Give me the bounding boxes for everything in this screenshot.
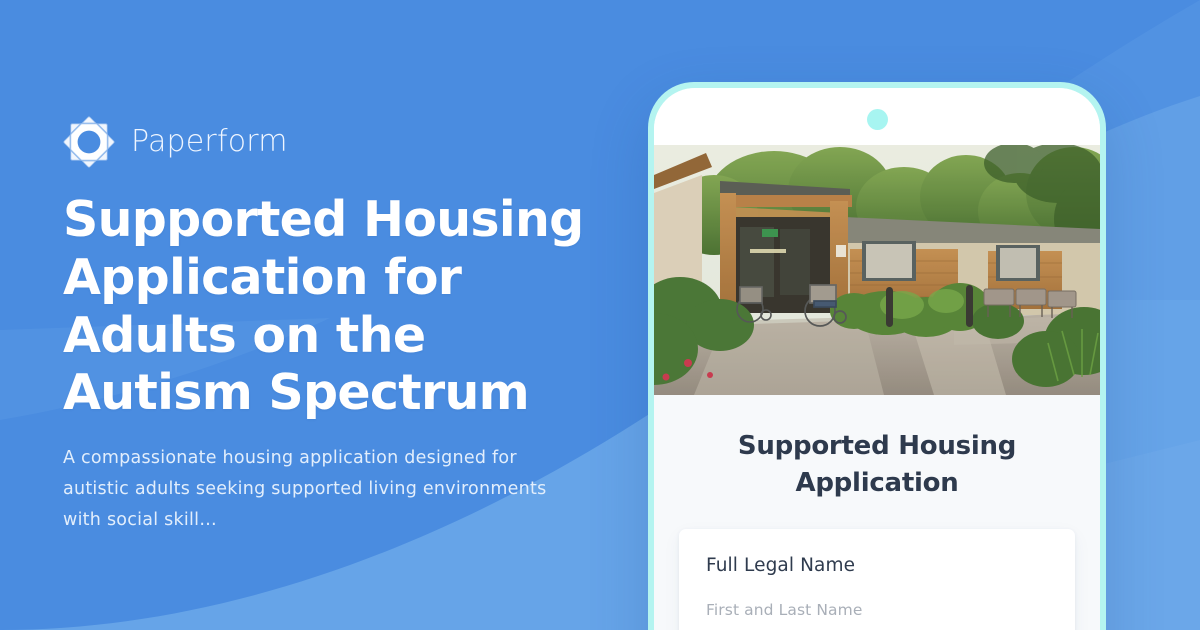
form-field-card: Full Legal Name First and Last Name bbox=[679, 529, 1075, 630]
hero-content-column: Paperform Supported Housing Application … bbox=[63, 0, 653, 630]
field-label-full-legal-name: Full Legal Name bbox=[706, 555, 1048, 576]
full-legal-name-input[interactable]: First and Last Name bbox=[706, 601, 1048, 630]
page-title: Supported Housing Application for Adults… bbox=[63, 191, 603, 422]
phone-screen: Supported Housing Application Full Legal… bbox=[654, 88, 1100, 630]
brand-name: Paperform bbox=[131, 127, 288, 157]
phone-mockup: Supported Housing Application Full Legal… bbox=[648, 82, 1106, 630]
supported-living-residence-photo bbox=[654, 145, 1100, 395]
camera-dot-icon bbox=[867, 109, 888, 130]
paperform-star-logo-icon bbox=[63, 116, 115, 168]
brand-lockup[interactable]: Paperform bbox=[63, 116, 288, 168]
phone-status-bar bbox=[654, 88, 1100, 145]
page-subtitle: A compassionate housing application desi… bbox=[63, 443, 568, 536]
form-hero-image bbox=[654, 145, 1100, 395]
form-heading: Supported Housing Application bbox=[688, 428, 1066, 502]
